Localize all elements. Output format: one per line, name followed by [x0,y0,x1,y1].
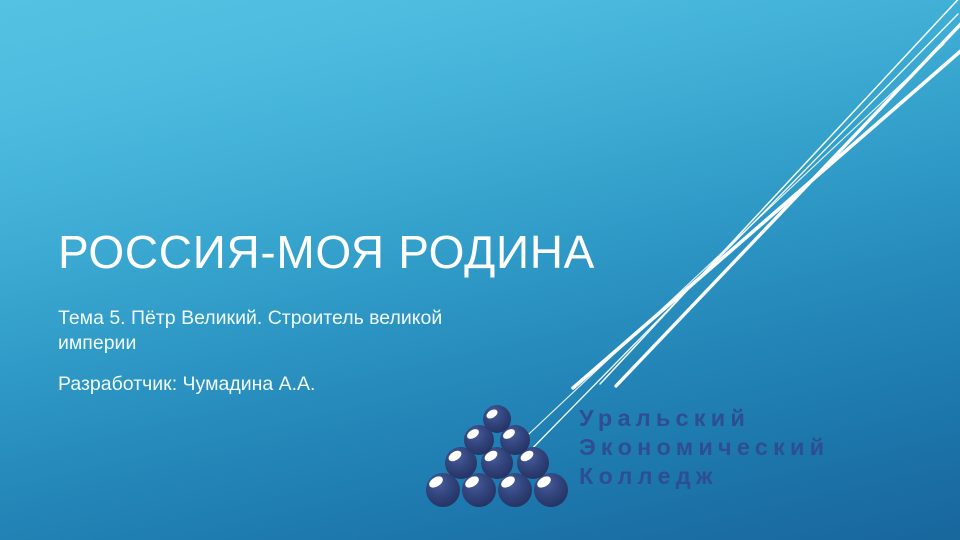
pyramid-balls [426,405,568,507]
college-logo: Уральский Экономический Колледж [424,396,924,521]
ray-line-thick-1 [616,6,960,386]
page-title: Россия-Моя Родина [58,228,718,276]
logo-wordmark: Уральский Экономический Колледж [579,404,829,491]
presentation-slide: Россия-Моя Родина Тема 5. Пётр Великий. … [0,0,960,540]
ray-line-thick-2 [573,36,960,388]
subtitle-topic: Тема 5. Пётр Великий. Строитель великой … [58,306,488,355]
logo-line-3: Колледж [579,462,829,491]
subtitle-author: Разработчик: Чумадина А.А. [58,372,488,397]
subtitle-block: Тема 5. Пётр Великий. Строитель великой … [58,306,488,397]
logo-line-2: Экономический [579,433,829,462]
ball-pyramid-emblem [424,404,574,514]
ray-line-thin-1 [600,0,960,384]
logo-line-1: Уральский [579,404,829,433]
